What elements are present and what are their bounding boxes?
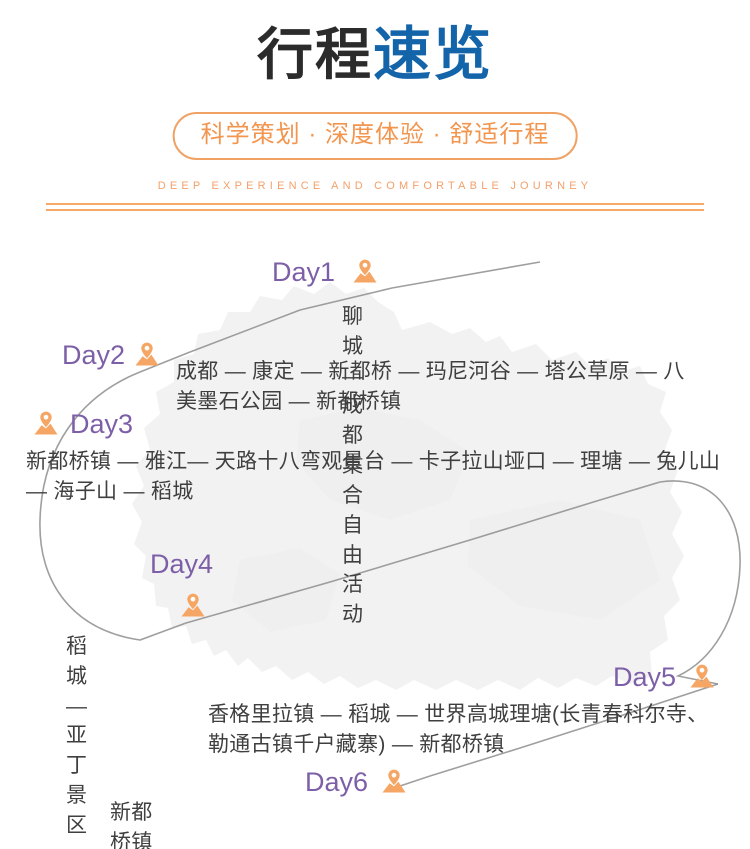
map-pin-icon xyxy=(133,341,161,369)
day-6-header: Day6 xyxy=(305,768,408,796)
page-title: 行程速览 xyxy=(0,26,750,84)
day-2-route: 成都 — 康定 — 新都桥 — 玛尼河谷 — 塔公草原 — 八美墨石公园 — 新… xyxy=(176,357,696,417)
day-4-route: 稻城—亚丁景区一日游 — 香格里拉镇 xyxy=(66,632,87,849)
divider xyxy=(46,203,704,211)
day-5-label: Day5 xyxy=(613,664,676,691)
day-3-header: Day3 xyxy=(32,410,133,438)
divider-line-bottom xyxy=(46,209,704,211)
itinerary-overview-page: 行程速览 科学策划 · 深度体验 · 舒适行程 DEEP EXPERIENCE … xyxy=(0,0,750,849)
day-2-header: Day2 xyxy=(62,341,161,369)
subtitle-text: 科学策划 · 深度体验 · 舒适行程 xyxy=(201,121,550,148)
subtitle-badge: 科学策划 · 深度体验 · 舒适行程 xyxy=(173,112,578,160)
map-pin-icon xyxy=(380,768,408,796)
day-3-label: Day3 xyxy=(70,411,133,438)
day-3-route: 新都桥镇 — 雅江— 天路十八弯观景台 — 卡子拉山垭口 — 理塘 — 兔儿山 … xyxy=(26,447,726,507)
day-4-header: Day4 xyxy=(150,551,213,620)
map-pin-icon xyxy=(179,592,207,620)
page-title-part2: 速览 xyxy=(373,22,493,87)
tagline: DEEP EXPERIENCE AND COMFORTABLE JOURNEY xyxy=(0,180,750,192)
day-6-route: 新都桥镇 — 【海螺沟冰川森林公园】— 成都 — 聊城 xyxy=(110,798,153,849)
day-5-route: 香格里拉镇 — 稻城 — 世界高城理塘(长青春科尔寺、勒通古镇千户藏寨) — 新… xyxy=(208,700,718,760)
day-5-header: Day5 xyxy=(613,663,716,691)
day-2-label: Day2 xyxy=(62,342,125,369)
map-pin-icon xyxy=(32,410,60,438)
map-pin-icon xyxy=(351,258,379,286)
day-1-label: Day1 xyxy=(272,259,335,286)
day-1-header: Day1 xyxy=(272,258,379,286)
map-pin-icon xyxy=(688,663,716,691)
day-6-label: Day6 xyxy=(305,769,368,796)
page-title-part1: 行程 xyxy=(257,23,373,86)
day-4-label: Day4 xyxy=(150,551,213,578)
divider-line-top xyxy=(46,203,704,205)
